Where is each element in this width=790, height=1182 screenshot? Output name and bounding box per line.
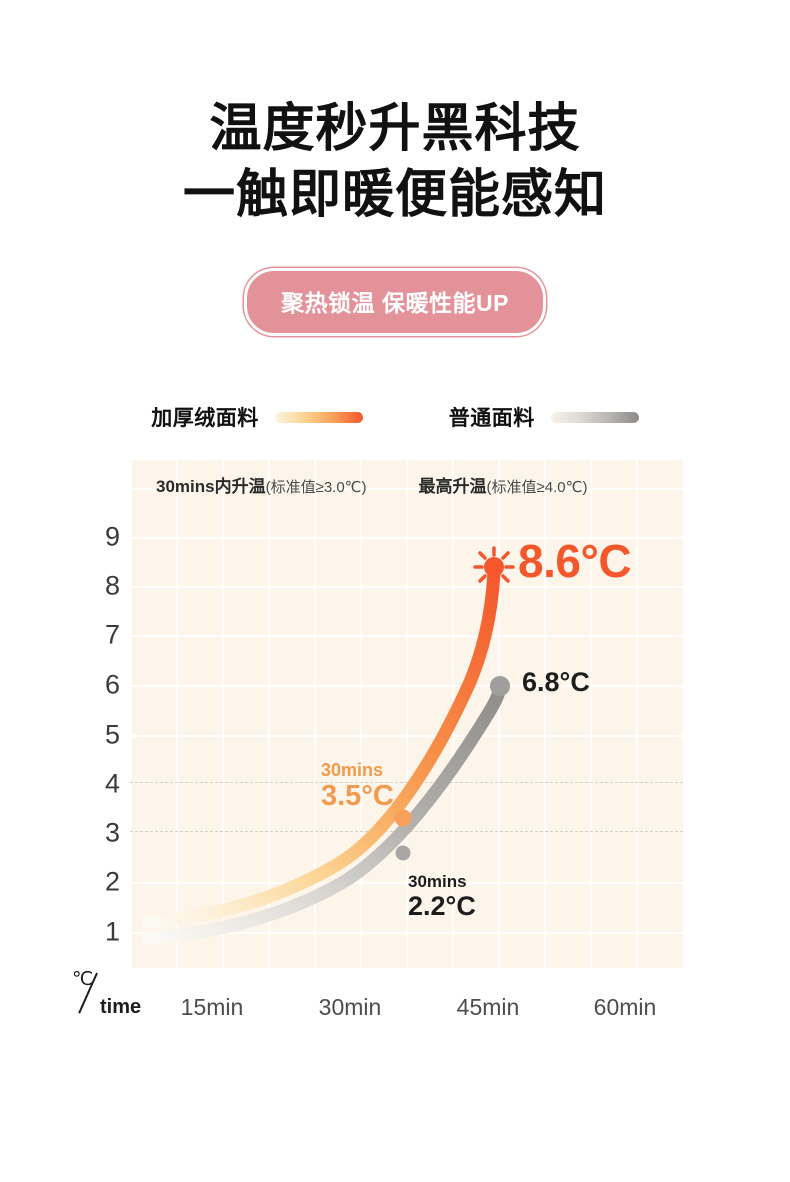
legend-item-normal-fabric: 普通面料 [449,402,639,432]
x-tick-15min: 15min [181,994,244,1021]
x-tick-30min: 30min [319,994,382,1021]
headline-line-2: 一触即暖便能感知 [0,162,790,228]
legend-label-thick-fleece: 加厚绒面料 [151,402,259,432]
mid-temp-normal-fabric: 2.2°C [408,891,476,921]
curve-thick-fleece [148,572,494,922]
mid-value-thick-fleece: 30mins 3.5°C [321,760,394,812]
mid-value-normal-fabric: 30mins 2.2°C [408,872,476,921]
x-tick-60min: 60min [594,994,657,1021]
marker-normal-30mins [396,846,411,861]
y-tick-1: 1 [72,917,120,948]
temperature-rise-chart: 30mins内升温(标准值≥3.0℃) 最高升温(标准值≥4.0℃) [130,460,683,968]
badge-container: 聚热锁温 保暖性能UP [0,268,790,336]
page-title: 温度秒升黑科技 一触即暖便能感知 [0,96,790,228]
peak-value-normal-fabric: 6.8°C [522,667,590,698]
mid-label-thick-fleece: 30mins [321,760,394,780]
marker-fleece-30mins [395,810,412,827]
y-tick-3: 3 [72,818,120,849]
mid-label-normal-fabric: 30mins [408,872,476,891]
y-tick-2: 2 [72,867,120,898]
y-tick-5: 5 [72,720,120,751]
legend-swatch-normal-fabric [551,412,639,423]
x-tick-45min: 45min [457,994,520,1021]
mid-temp-thick-fleece: 3.5°C [321,780,394,812]
marker-normal-peak [490,676,510,696]
y-tick-8: 8 [72,571,120,602]
legend-label-normal-fabric: 普通面料 [449,402,535,432]
y-tick-4: 4 [72,769,120,800]
headline-line-1: 温度秒升黑科技 [209,100,580,158]
y-axis: 9 8 7 6 5 4 3 2 1 [72,460,120,968]
y-tick-9: 9 [72,522,120,553]
y-tick-6: 6 [72,670,120,701]
legend-swatch-thick-fleece [275,412,363,423]
legend-item-thick-fleece: 加厚绒面料 [151,402,363,432]
sun-burst-icon [475,548,513,581]
peak-value-thick-fleece: 8.6°C [518,534,631,588]
x-axis: 15min 30min 45min 60min [130,994,683,1024]
promo-page: 温度秒升黑科技 一触即暖便能感知 聚热锁温 保暖性能UP 加厚绒面料 普通面料 … [0,0,790,1182]
y-tick-7: 7 [72,620,120,651]
chart-legend: 加厚绒面料 普通面料 [0,402,790,432]
feature-badge: 聚热锁温 保暖性能UP [244,268,546,336]
